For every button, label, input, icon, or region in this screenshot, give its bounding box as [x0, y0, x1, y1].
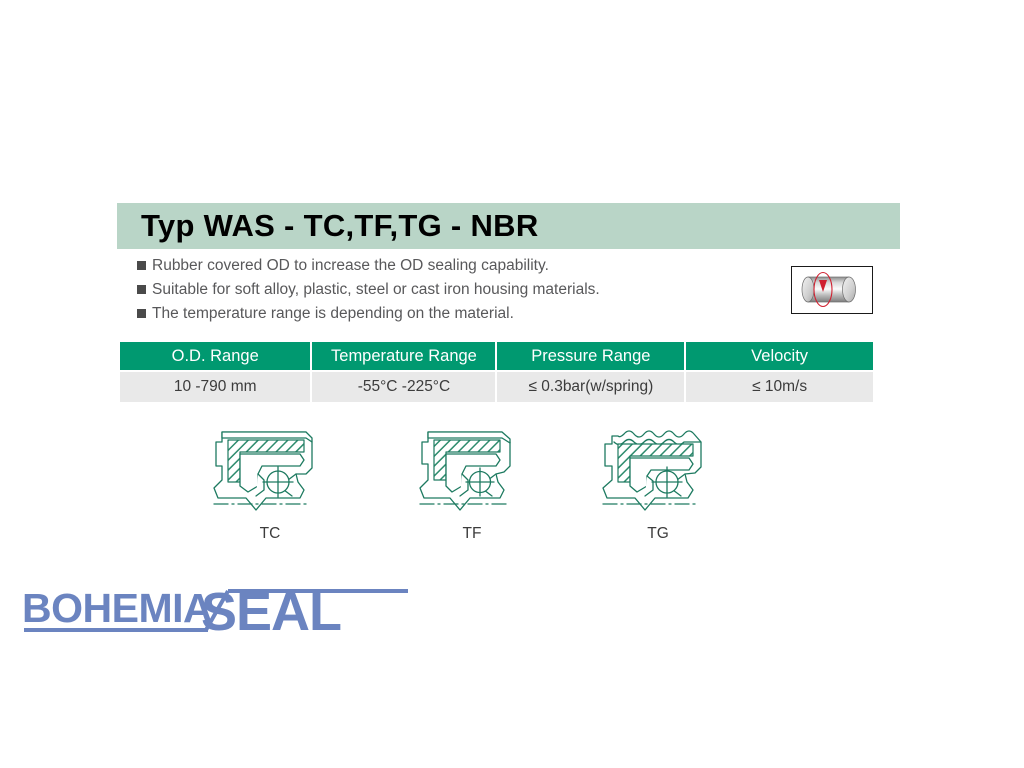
seal-label-tc: TC [200, 525, 340, 543]
list-item: Suitable for soft alloy, plastic, steel … [137, 280, 757, 301]
table-header-row: O.D. Range Temperature Range Pressure Ra… [120, 342, 873, 370]
specification-table: O.D. Range Temperature Range Pressure Ra… [118, 340, 875, 404]
cell-pressure-range: ≤ 0.3bar(w/spring) [497, 372, 684, 402]
square-bullet-icon [137, 261, 146, 270]
seal-cross-section-tg-icon [588, 418, 728, 522]
column-header-od-range: O.D. Range [120, 342, 310, 370]
column-header-pressure-range: Pressure Range [497, 342, 684, 370]
square-bullet-icon [137, 309, 146, 318]
seal-diagram-tf: TF [402, 418, 542, 543]
feature-text: Rubber covered OD to increase the OD sea… [152, 256, 549, 276]
seal-cross-section-tc-icon [200, 418, 340, 522]
feature-text: Suitable for soft alloy, plastic, steel … [152, 280, 600, 300]
seal-label-tg: TG [588, 525, 728, 543]
list-item: Rubber covered OD to increase the OD sea… [137, 256, 757, 277]
table-row: 10 -790 mm -55°C -225°C ≤ 0.3bar(w/sprin… [120, 372, 873, 402]
square-bullet-icon [137, 285, 146, 294]
seal-diagram-tc: TC [200, 418, 340, 543]
seal-cross-section-tf-icon [402, 418, 542, 522]
cell-velocity: ≤ 10m/s [686, 372, 873, 402]
seal-diagram-tg: TG [588, 418, 728, 543]
feature-list: Rubber covered OD to increase the OD sea… [137, 256, 757, 328]
brand-logo: BOHEMIA SEAL [16, 578, 416, 646]
seal-label-tf: TF [402, 525, 542, 543]
title-band: Typ WAS - TC,TF,TG - NBR [117, 203, 900, 249]
cell-temperature-range: -55°C -225°C [312, 372, 495, 402]
list-item: The temperature range is depending on th… [137, 304, 757, 325]
feature-text: The temperature range is depending on th… [152, 304, 514, 324]
cell-od-range: 10 -790 mm [120, 372, 310, 402]
logo-text-bohemia: BOHEMIA [22, 585, 212, 631]
page-title: Typ WAS - TC,TF,TG - NBR [141, 208, 539, 244]
rotating-shaft-icon [791, 266, 873, 314]
column-header-temperature-range: Temperature Range [312, 342, 495, 370]
column-header-velocity: Velocity [686, 342, 873, 370]
